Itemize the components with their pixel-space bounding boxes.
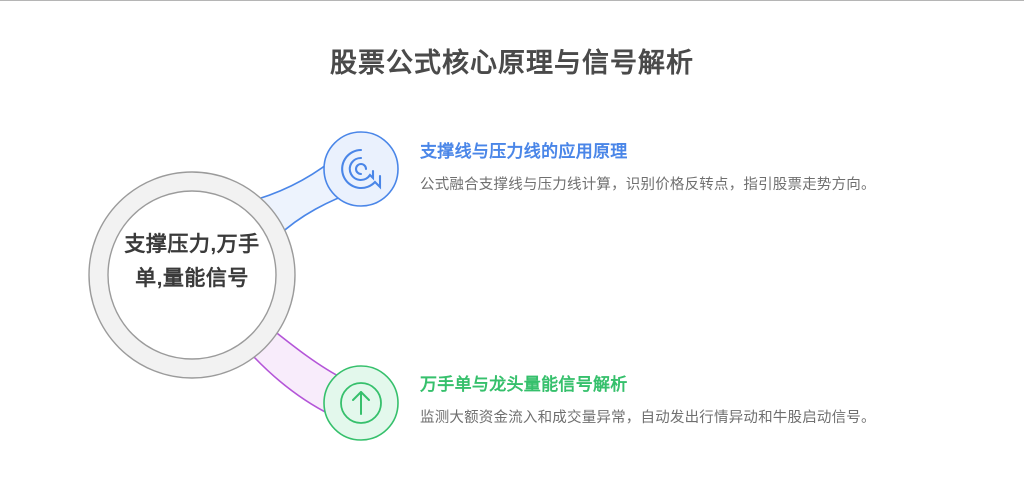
branch-0-text-block: 支撑线与压力线的应用原理 公式融合支撑线与压力线计算，识别价格反转点，指引股票走… bbox=[420, 140, 980, 196]
mindmap-infographic: 股票公式核心原理与信号解析 bbox=[0, 0, 1024, 477]
branch-1-icon-node[interactable] bbox=[324, 366, 398, 440]
branch-0-body: 公式融合支撑线与压力线计算，识别价格反转点，指引股票走势方向。 bbox=[420, 174, 980, 196]
branch-1-text-block: 万手单与龙头量能信号解析 监测大额资金流入和成交量异常，自动发出行情异动和牛股启… bbox=[420, 373, 980, 429]
branch-1-heading: 万手单与龙头量能信号解析 bbox=[420, 373, 980, 397]
central-node-label: 支撑压力,万手单,量能信号 bbox=[116, 228, 268, 296]
branch-1-body: 监测大额资金流入和成交量异常，自动发出行情异动和牛股启动信号。 bbox=[420, 407, 980, 429]
branch-0-icon-circle bbox=[324, 132, 398, 206]
branch-0-icon-node[interactable] bbox=[324, 132, 398, 206]
branch-0-heading: 支撑线与压力线的应用原理 bbox=[420, 140, 980, 164]
